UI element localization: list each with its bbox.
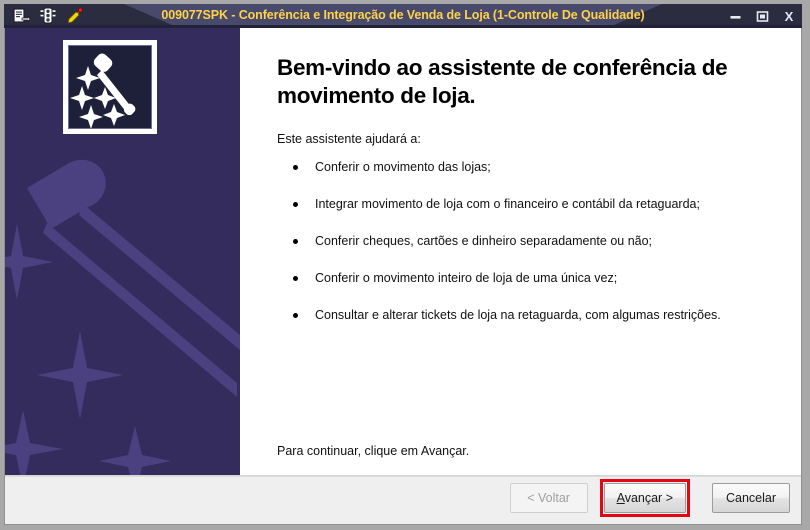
list-item: Conferir o movimento inteiro de loja de …	[283, 271, 773, 286]
next-button-highlight: Avançar >	[600, 479, 690, 517]
next-button[interactable]: Avançar >	[604, 483, 686, 513]
maximize-button[interactable]	[755, 10, 769, 23]
dialog-footer: < Voltar Avançar > Cancelar	[5, 475, 801, 524]
next-button-mnemonic: A	[617, 491, 625, 505]
cancel-button[interactable]: Cancelar	[712, 483, 790, 513]
feature-list: Conferir o movimento das lojas; Integrar…	[277, 160, 773, 323]
page-title: Bem-vindo ao assistente de conferência d…	[277, 54, 773, 109]
intro-text: Este assistente ajudará a:	[277, 132, 773, 146]
next-button-label: Avançar >	[617, 491, 673, 505]
back-button[interactable]: < Voltar	[510, 483, 588, 513]
button-row: < Voltar Avançar > Cancelar	[510, 483, 790, 513]
wizard-content: Bem-vindo ao assistente de conferência d…	[240, 28, 801, 476]
list-item: Consultar e alterar tickets de loja na r…	[283, 308, 773, 323]
window-controls: X	[728, 4, 796, 28]
title-bar: 009077SPK - Conferência e Integração de …	[4, 4, 802, 28]
window-title: 009077SPK - Conferência e Integração de …	[4, 4, 802, 28]
minimize-button[interactable]	[728, 10, 742, 23]
footer-divider	[5, 476, 801, 477]
list-item: Conferir cheques, cartões e dinheiro sep…	[283, 234, 773, 249]
wizard-sidebar	[5, 28, 240, 476]
close-button[interactable]: X	[782, 10, 796, 23]
dialog-client-area: Bem-vindo ao assistente de conferência d…	[4, 28, 802, 525]
next-button-label-rest: vançar >	[625, 491, 673, 505]
continue-hint: Para continuar, clique em Avançar.	[277, 444, 469, 458]
application-window: 009077SPK - Conferência e Integração de …	[0, 0, 810, 530]
list-item: Conferir o movimento das lojas;	[283, 160, 773, 175]
wizard-wand-icon	[63, 40, 157, 134]
magic-wand-glyph	[69, 46, 151, 128]
list-item: Integrar movimento de loja com o finance…	[283, 197, 773, 212]
